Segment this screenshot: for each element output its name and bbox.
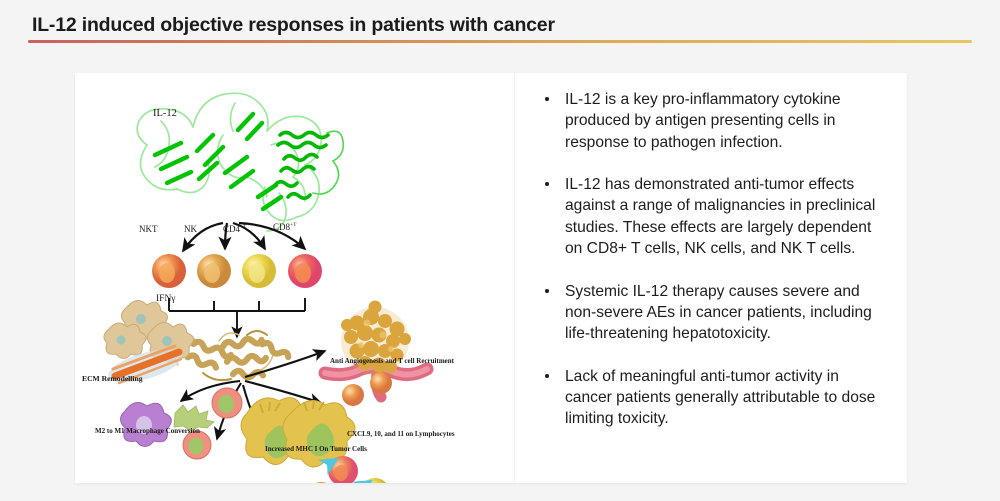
- diagram-svg: [75, 73, 515, 483]
- antiangiogenesis-illustration: [325, 301, 427, 407]
- slide-root: IL-12 induced objective responses in pat…: [0, 0, 1000, 501]
- bullet-text: IL-12 has demonstrated anti-tumor effect…: [565, 176, 875, 257]
- diagram-label-mhc-tumor-cells: Increased MHC I On Tumor Cells: [265, 446, 355, 453]
- immune-cell-row: [152, 254, 322, 288]
- diagram-label-ecm-remodelling: ECM Remodelling: [82, 375, 143, 383]
- bullet-item: IL-12 is a key pro-inflammatory cytokine…: [543, 89, 884, 153]
- cell-convergence-bracket: [169, 298, 305, 337]
- bullet-text: IL-12 is a key pro-inflammatory cytokine…: [565, 91, 841, 151]
- diagram-label-ifng: IFNγ: [156, 295, 176, 305]
- cd4-superscript: +T: [240, 224, 247, 230]
- bullet-dot-icon: [545, 97, 549, 101]
- cd8-superscript: +T: [290, 222, 297, 228]
- diagram-label-cxcl: CXCL9, 10, and 11 on Lymphocytes: [347, 431, 439, 438]
- diagram-label-macrophage-conversion: M2 to M1 Macrophage Conversion: [95, 428, 195, 435]
- recruited-t-cell: [370, 372, 392, 394]
- mhc-tumor-cells-illustration: [241, 398, 355, 467]
- bullet-text: Systemic IL-12 therapy causes severe and…: [565, 283, 872, 343]
- il12-mechanism-diagram: IL-12 IFNγ NKT NK CD4+T CD8+T ECM Remode…: [75, 73, 515, 483]
- page-title: IL-12 induced objective responses in pat…: [32, 14, 555, 37]
- diagram-label-antiangiogenesis: Anti Angiogenesis and T cell Recruitment: [330, 358, 422, 365]
- cd8-text: CD8: [273, 222, 290, 232]
- bullet-dot-icon: [545, 182, 549, 186]
- diagram-label-cd8: CD8+T: [273, 223, 297, 232]
- bullet-list: IL-12 is a key pro-inflammatory cytokine…: [543, 89, 884, 430]
- bullet-item: IL-12 has demonstrated anti-tumor effect…: [543, 174, 884, 259]
- diagram-label-nk: NK: [184, 225, 197, 234]
- diagram-label-cd4: CD4+T: [223, 225, 247, 234]
- bullet-dot-icon: [545, 289, 549, 293]
- bullet-item: Lack of meaningful anti-tumor activity i…: [543, 366, 884, 430]
- bullet-panel: IL-12 is a key pro-inflammatory cytokine…: [515, 73, 906, 483]
- bullet-dot-icon: [545, 374, 549, 378]
- macrophage-illustration: [121, 388, 243, 459]
- title-accent-rule: [28, 40, 972, 43]
- recruited-t-cell: [342, 384, 364, 406]
- content-card: IL-12 IFNγ NKT NK CD4+T CD8+T ECM Remode…: [75, 73, 907, 483]
- cd4-text: CD4: [223, 224, 240, 234]
- apoptotic-cell: [212, 388, 242, 418]
- diagram-label-il12: IL-12: [153, 108, 177, 119]
- bullet-item: Systemic IL-12 therapy causes severe and…: [543, 281, 884, 345]
- diagram-panel: IL-12 IFNγ NKT NK CD4+T CD8+T ECM Remode…: [75, 73, 515, 483]
- diagram-label-nkt: NKT: [139, 225, 158, 234]
- bullet-text: Lack of meaningful anti-tumor activity i…: [565, 368, 875, 428]
